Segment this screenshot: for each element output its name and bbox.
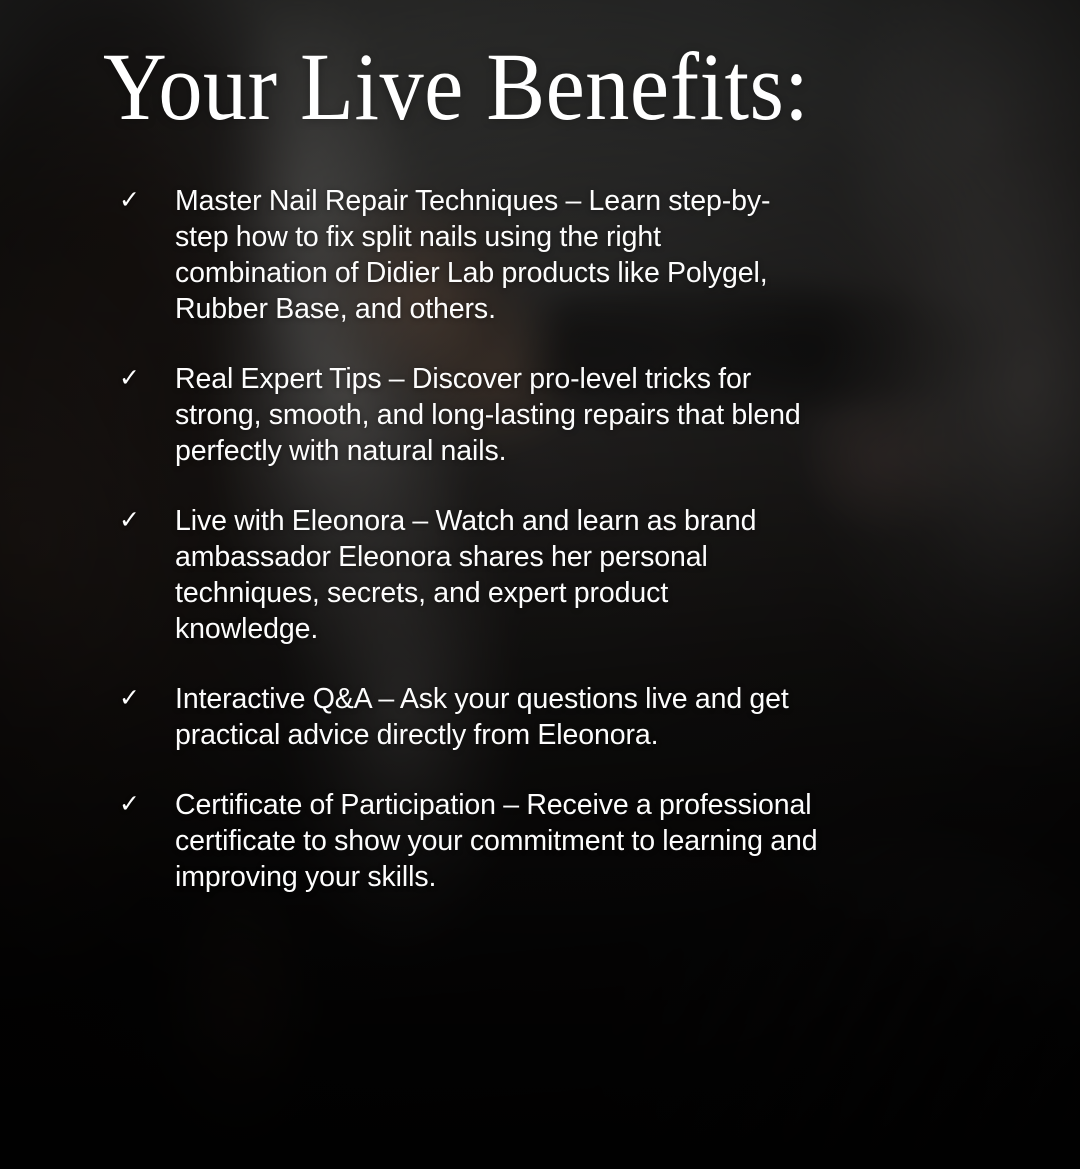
check-icon: ✓ <box>119 185 149 215</box>
benefit-text: Interactive Q&A – Ask your questions liv… <box>175 681 818 753</box>
list-item: ✓ Real Expert Tips – Discover pro-level … <box>118 361 818 469</box>
check-icon: ✓ <box>119 683 149 713</box>
benefits-poster: Your Live Benefits: ✓ Master Nail Repair… <box>0 0 1080 1169</box>
check-icon: ✓ <box>119 505 149 535</box>
poster-content: Your Live Benefits: ✓ Master Nail Repair… <box>0 0 1080 1169</box>
benefit-text: Real Expert Tips – Discover pro-level tr… <box>175 361 818 469</box>
benefits-list: ✓ Master Nail Repair Techniques – Learn … <box>118 183 818 895</box>
list-item: ✓ Certificate of Participation – Receive… <box>118 787 818 895</box>
check-icon: ✓ <box>119 789 149 819</box>
check-icon: ✓ <box>119 363 149 393</box>
benefit-text: Certificate of Participation – Receive a… <box>175 787 818 895</box>
list-item: ✓ Interactive Q&A – Ask your questions l… <box>118 681 818 753</box>
list-item: ✓ Master Nail Repair Techniques – Learn … <box>118 183 818 327</box>
benefit-text: Live with Eleonora – Watch and learn as … <box>175 503 818 647</box>
page-title: Your Live Benefits: <box>103 37 809 137</box>
list-item: ✓ Live with Eleonora – Watch and learn a… <box>118 503 818 647</box>
benefit-text: Master Nail Repair Techniques – Learn st… <box>175 183 818 327</box>
